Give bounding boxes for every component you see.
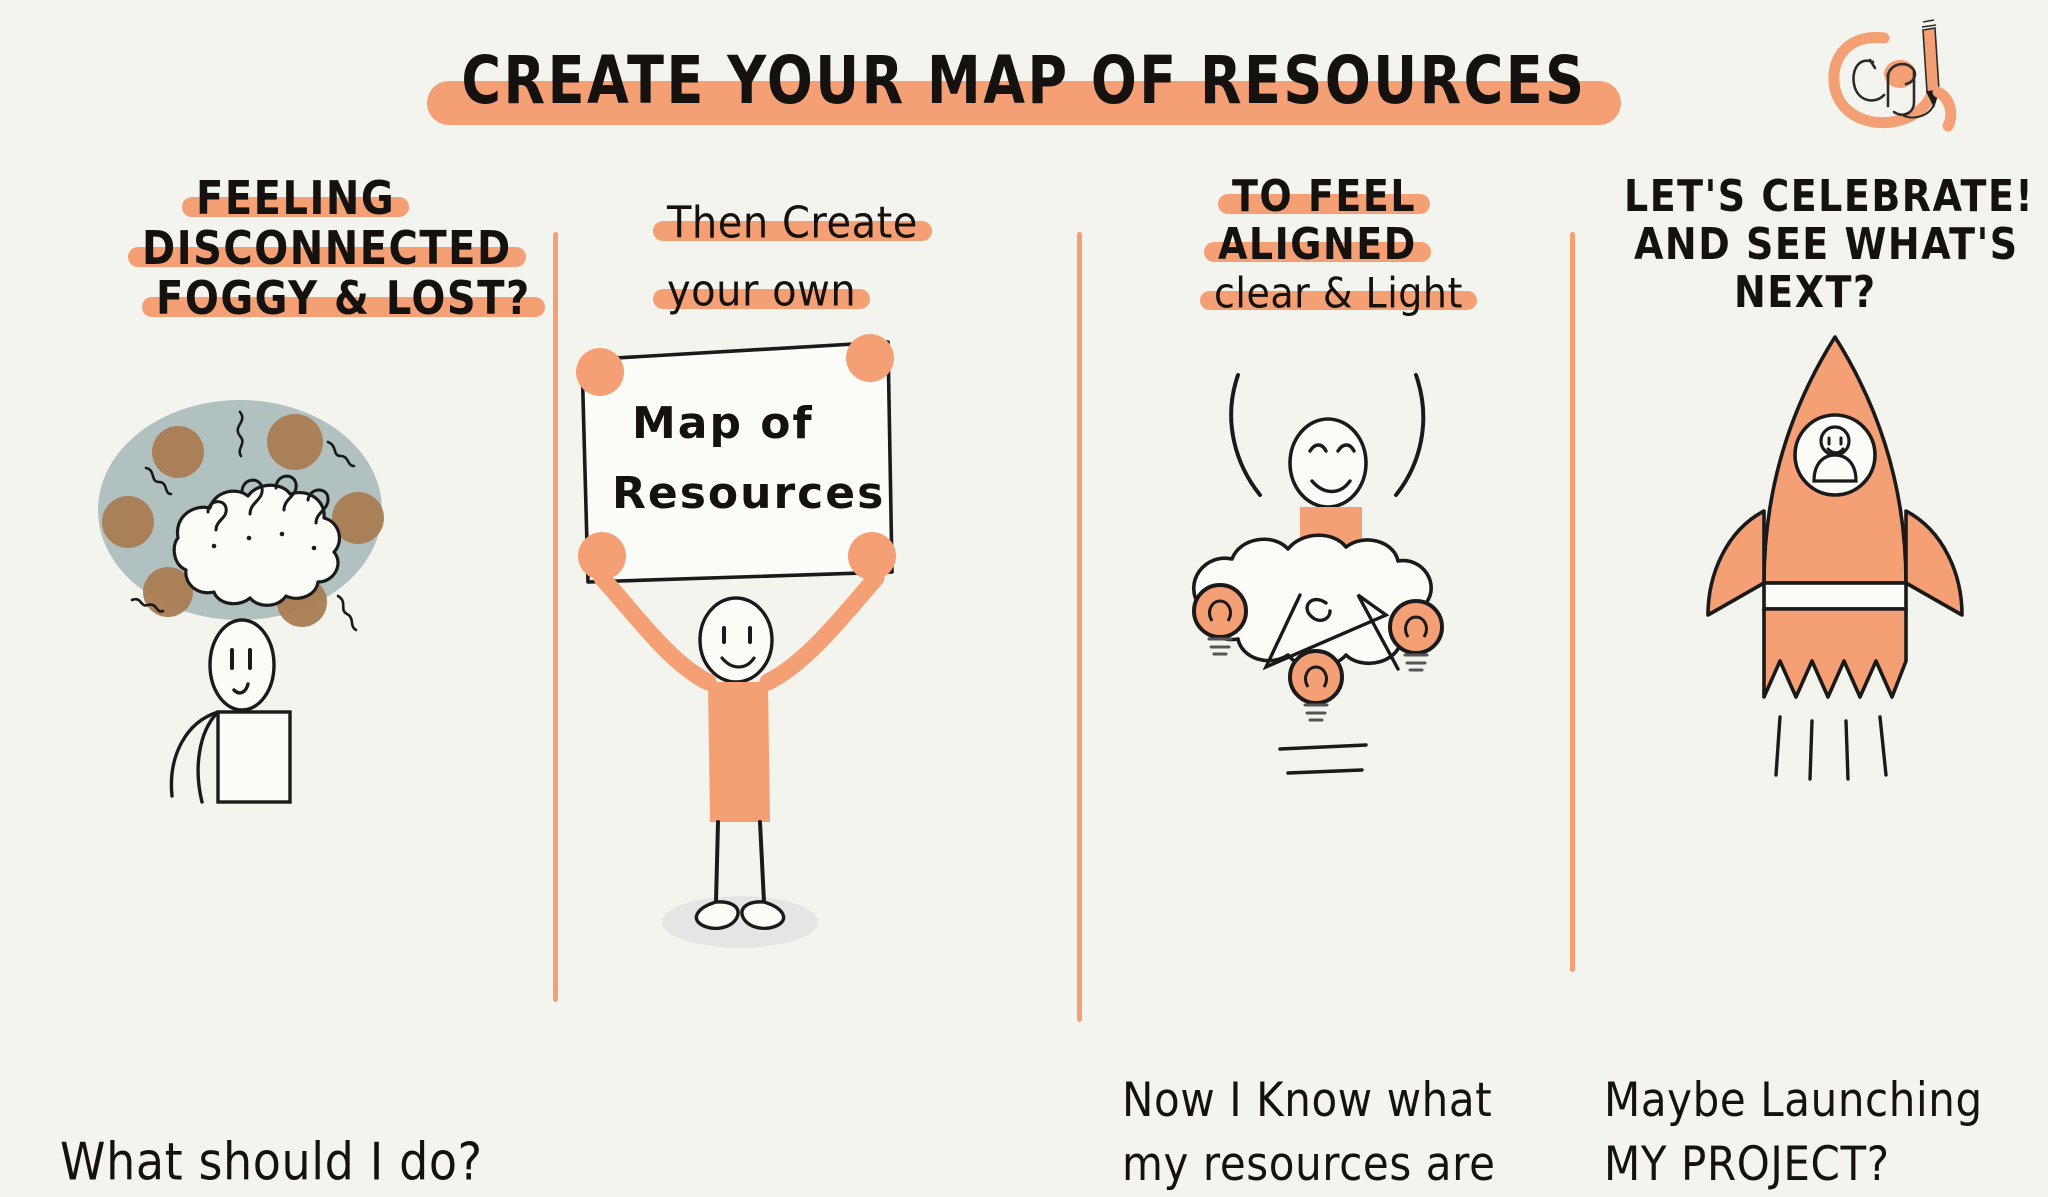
panel-problem-caption: What should I do? (60, 1065, 483, 1189)
headline-line-1: Let's Celebrate! (1610, 180, 2048, 218)
title-text: Create Your Map of Resources (461, 42, 1586, 119)
idea-bulb (1390, 601, 1442, 670)
arm-left (602, 578, 708, 682)
illustration-confused-person (90, 360, 420, 860)
headline-line-3: clear & Light (1200, 276, 1477, 314)
sign-line-2: Resources (612, 468, 885, 519)
panel-problem: Feeling Disconnected Foggy & Lost? (30, 150, 540, 1110)
illustration-rocket (1660, 325, 2010, 835)
headline-line-1: Then Create (653, 205, 932, 245)
headline-line-1-text: To Feel (1232, 174, 1416, 218)
headline-line-1: Feeling (182, 182, 409, 222)
rocket-tail (1764, 609, 1906, 697)
headline-line-3-text: Next? (1734, 270, 1877, 314)
headline-line-2-text: Aligned (1218, 222, 1417, 266)
panel-divider-2 (1077, 232, 1082, 1022)
sign-line-1: Map of (632, 398, 814, 449)
headline-line-2: Disconnected (128, 232, 526, 272)
headline-line-1-text: Let's Celebrate! (1624, 174, 2034, 218)
panel-aligned: To Feel Aligned clear & Light (1100, 150, 1555, 1110)
exhaust-lines (1776, 717, 1886, 779)
caption-text: Maybe Launching MY PROJECT? (1604, 1069, 1983, 1196)
headline-line-2: your own (653, 273, 870, 313)
panels-row: Feeling Disconnected Foggy & Lost? (0, 150, 2048, 1110)
panel-create-headline: Then Create your own (653, 205, 932, 323)
arm-right (1396, 375, 1423, 495)
title-highlight-bar: Create Your Map of Resources (427, 45, 1620, 120)
brand-logo (1826, 16, 1976, 134)
caption-text: What should I do? (60, 1127, 483, 1197)
page-title: Create Your Map of Resources (0, 34, 2048, 130)
rocket (1708, 337, 1962, 697)
panel-divider-3 (1570, 232, 1575, 972)
headline-line-3-text: clear & Light (1214, 272, 1463, 314)
headline-line-2: Aligned (1204, 228, 1431, 266)
person-figure (602, 578, 876, 948)
sign-corner-dot (846, 334, 894, 382)
panel-launch: Let's Celebrate! And see what's Next? (1590, 150, 2030, 1110)
headline-line-2-text: your own (667, 269, 856, 313)
headline-line-3-text: Foggy & Lost? (156, 276, 531, 322)
headline-line-2-text: Disconnected (142, 226, 512, 272)
sign-board: Map of Resources (576, 334, 896, 582)
headline-line-3: Foggy & Lost? (142, 282, 545, 322)
ground-shadow (662, 896, 818, 948)
headline-line-2: And see what's (1620, 228, 2033, 266)
idea-bulb (1290, 651, 1342, 720)
headline-line-1-text: Then Create (667, 201, 918, 245)
headline-line-1-text: Feeling (196, 176, 395, 222)
person-figure (171, 620, 290, 802)
sign-corner-dot (576, 348, 624, 396)
panel-create: Then Create your own Map of (575, 150, 1060, 1110)
panel-aligned-headline: To Feel Aligned clear & Light (1200, 180, 1477, 324)
headline-line-3: Next? (1720, 276, 1891, 314)
headline-line-2-text: And see what's (1634, 222, 2019, 266)
torso (708, 682, 770, 822)
panel-problem-headline: Feeling Disconnected Foggy & Lost? (120, 182, 545, 332)
panel-launch-caption: Maybe Launching MY PROJECT? (1604, 1012, 1983, 1182)
arm-right (768, 578, 876, 682)
rocket-fin-left (1708, 511, 1764, 615)
caption-text: Now I Know what my resources are (1122, 1069, 1496, 1196)
illustration-happy-person-ideas (1130, 335, 1530, 835)
panel-aligned-caption: Now I Know what my resources are (1122, 1012, 1496, 1182)
panel-launch-headline: Let's Celebrate! And see what's Next? (1610, 180, 2048, 324)
float-lines (1280, 745, 1366, 773)
illustration-person-with-sign: Map of Resources (540, 310, 1020, 970)
headline-line-1: To Feel (1218, 180, 1430, 218)
infographic-canvas: Create Your Map of Resources (0, 0, 2048, 1111)
rocket-fin-right (1906, 511, 1962, 615)
rocket-band (1764, 583, 1906, 609)
arm-left (1231, 375, 1260, 495)
